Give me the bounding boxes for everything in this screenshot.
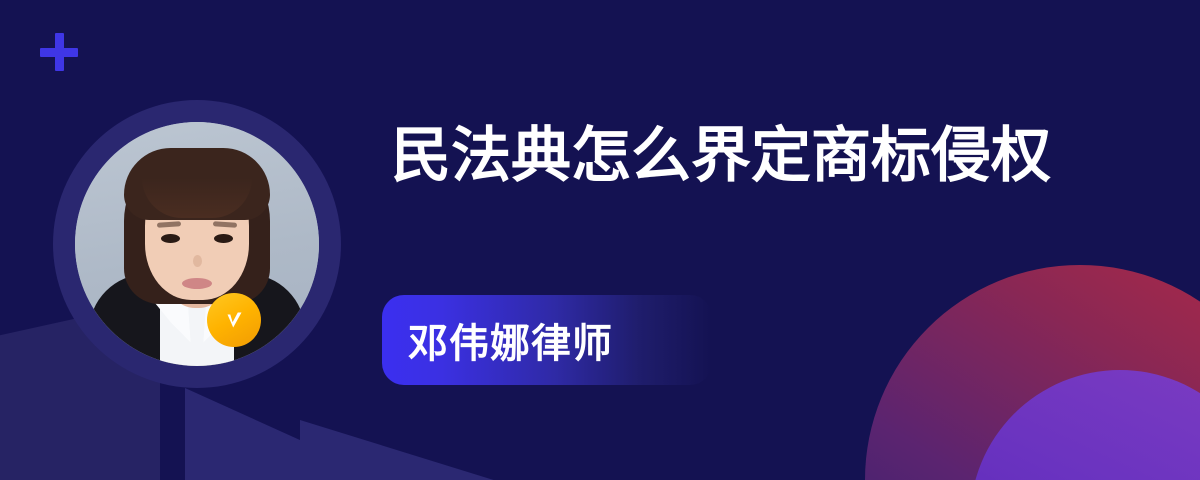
portrait-eye-right <box>214 234 233 243</box>
avatar-photo <box>75 122 319 366</box>
verified-check-icon <box>207 293 261 347</box>
gradient-circle-outer <box>865 265 1200 480</box>
banner-card: 民法典怎么界定商标侵权 邓伟娜律师 <box>0 0 1200 480</box>
avatar <box>53 100 341 388</box>
lawyer-name-badge: 邓伟娜律师 <box>382 295 712 385</box>
portrait-bangs <box>124 148 270 220</box>
page-title: 民法典怎么界定商标侵权 <box>391 126 1051 186</box>
triangle-shape-middle-2 <box>300 420 500 480</box>
lawyer-name-label: 邓伟娜律师 <box>408 311 613 369</box>
plus-icon <box>40 33 78 71</box>
portrait-nose <box>193 255 202 267</box>
gradient-circle-inner <box>970 370 1200 480</box>
portrait-mouth <box>182 278 212 289</box>
portrait-eye-left <box>161 234 180 243</box>
triangle-shape-middle <box>185 388 395 480</box>
